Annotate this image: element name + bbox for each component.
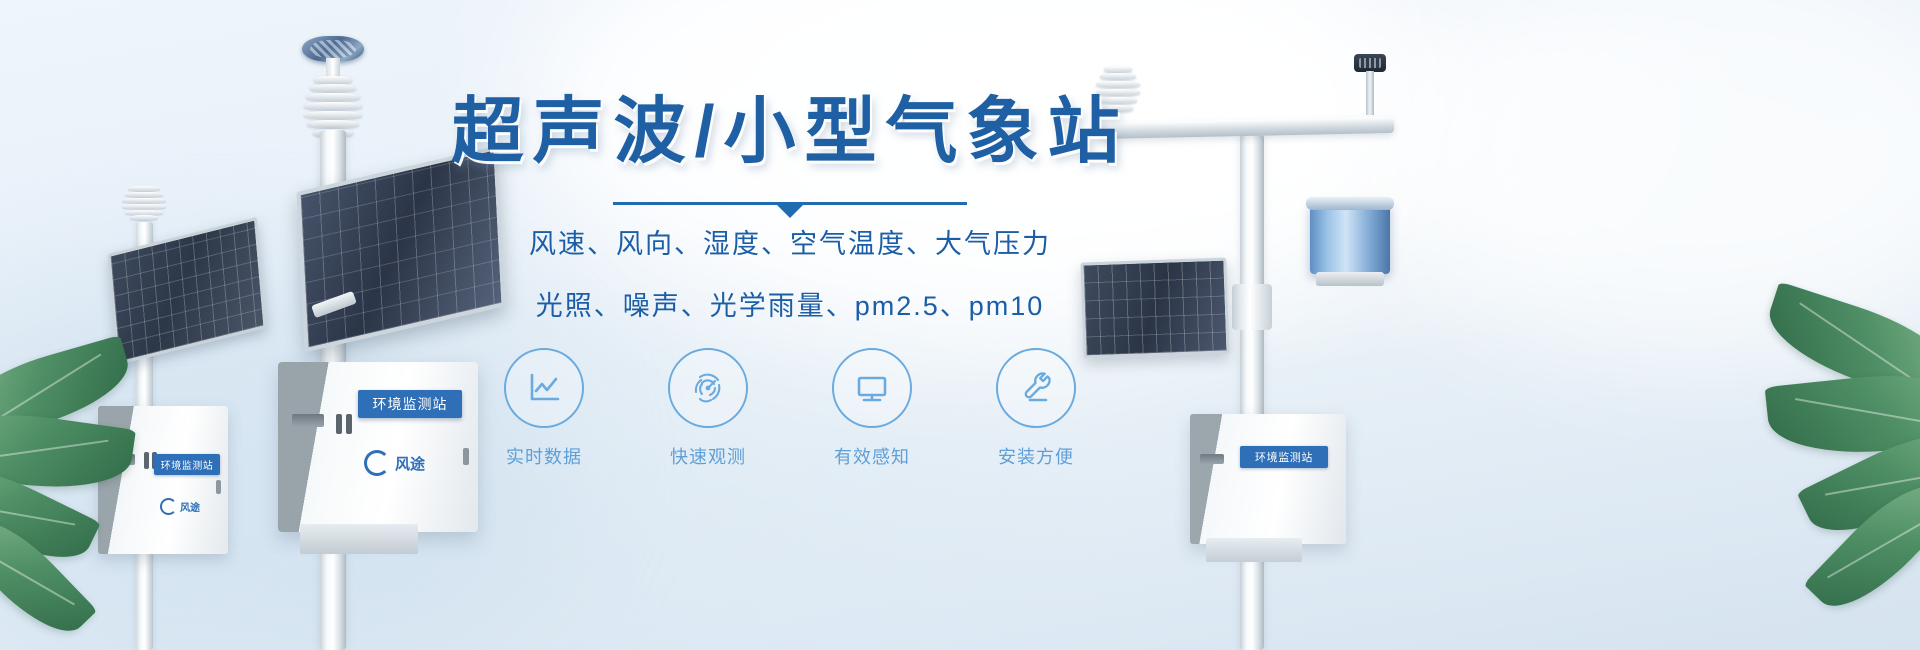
feature-list: 实时数据 快速观测 (430, 348, 1150, 469)
brand-mark-icon (364, 450, 390, 476)
mid-cabinet-vent (292, 414, 324, 427)
left-cabinet-brand-logo: 风途 (160, 498, 200, 515)
mid-cabinet-hinge-2 (346, 414, 352, 434)
left-cabinet-latch (216, 480, 221, 494)
feature-icon-circle (668, 348, 748, 428)
feature-item-easy-install[interactable]: 安装方便 (983, 348, 1089, 469)
anemometer-head (1354, 54, 1386, 72)
right-station-pole (1240, 134, 1264, 650)
left-weather-station: 环境监测站 风途 (92, 180, 292, 650)
feature-label: 有效感知 (834, 443, 910, 469)
left-cabinet-nameplate: 环境监测站 (154, 454, 220, 475)
line-chart-icon (524, 368, 564, 408)
left-control-cabinet: 环境监测站 风途 (98, 406, 228, 554)
leaf-shape (1797, 410, 1920, 554)
right-cabinet-base (1206, 538, 1302, 562)
rain-gauge-lip (1306, 197, 1394, 210)
feature-label: 快速观测 (670, 443, 746, 469)
wrench-icon (1016, 368, 1056, 408)
left-cabinet-brand-text: 风途 (180, 499, 200, 514)
subtitle-line-2: 光照、噪声、光学雨量、pm2.5、pm10 (430, 285, 1150, 329)
right-control-cabinet: 环境监测站 (1190, 414, 1346, 544)
left-cabinet-nameplate-text: 环境监测站 (161, 457, 214, 472)
foliage-right (1660, 300, 1920, 650)
right-cabinet-vent (1200, 454, 1224, 464)
left-cabinet-hinge (144, 452, 149, 469)
leaf-shape (0, 503, 97, 650)
left-cabinet-vent (109, 454, 135, 465)
right-cabinet-nameplate: 环境监测站 (1240, 446, 1328, 468)
page-title: 超声波/小型气象站 (430, 96, 1150, 168)
anemometer-stem (1366, 71, 1374, 115)
subtitle-line-1: 风速、风向、湿度、空气温度、大气压力 (430, 223, 1150, 267)
mid-cabinet-brand-text: 风途 (395, 453, 425, 474)
product-hero-banner: 环境监测站 风途 环境监测站 风途 (0, 0, 1920, 650)
title-divider (613, 202, 967, 205)
mid-radiation-shield-icon (304, 76, 362, 138)
brand-mark-icon (160, 498, 177, 515)
left-solar-panel (107, 217, 266, 365)
right-ultrasonic-anemometer-icon (1354, 54, 1386, 112)
rain-gauge-cylinder (1310, 202, 1390, 274)
leaf-shape (1765, 365, 1920, 463)
feature-icon-circle (996, 348, 1076, 428)
leaf-shape (1758, 281, 1920, 408)
mid-cabinet-base (300, 524, 418, 554)
left-radiation-shield-icon (122, 186, 166, 220)
mid-cabinet-brand-logo: 风途 (364, 450, 425, 476)
feature-label: 实时数据 (506, 443, 582, 469)
right-pole-collar (1232, 284, 1272, 330)
feature-icon-circle (832, 348, 912, 428)
hero-copy: 超声波/小型气象站 风速、风向、湿度、空气温度、大气压力 光照、噪声、光学雨量、… (430, 96, 1150, 328)
leaf-shape (0, 447, 101, 578)
feature-icon-circle (504, 348, 584, 428)
right-cabinet-nameplate-text: 环境监测站 (1255, 449, 1313, 465)
sky-haze-right (1380, 0, 1920, 360)
feature-label: 安装方便 (998, 443, 1074, 469)
right-rain-gauge (1310, 202, 1390, 288)
feature-item-effective-sensing[interactable]: 有效感知 (819, 348, 925, 469)
mid-cabinet-hinge (336, 414, 342, 434)
rain-gauge-base (1316, 272, 1384, 286)
radar-observation-icon (688, 368, 728, 408)
feature-item-realtime-data[interactable]: 实时数据 (491, 348, 597, 469)
feature-item-fast-observation[interactable]: 快速观测 (655, 348, 761, 469)
leaf-shape (1803, 466, 1920, 626)
monitor-screen-icon (852, 368, 892, 408)
